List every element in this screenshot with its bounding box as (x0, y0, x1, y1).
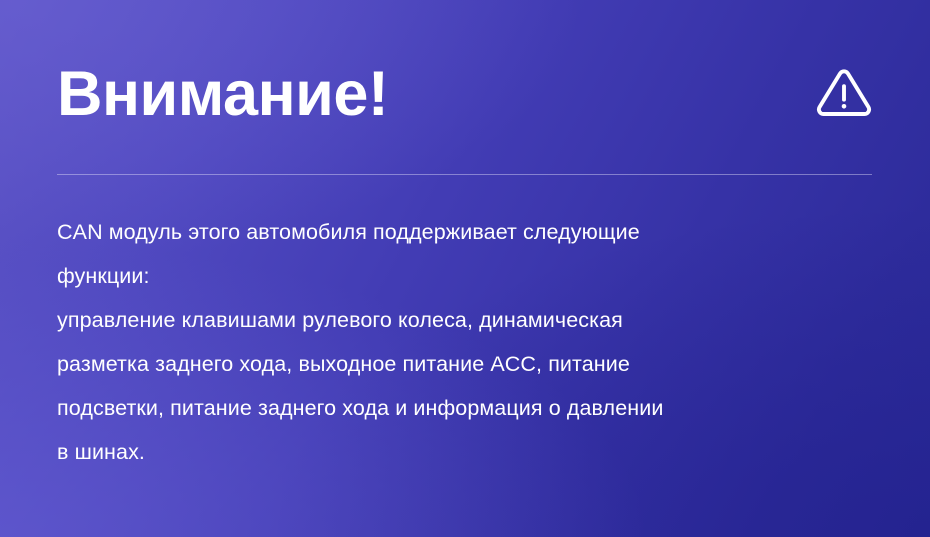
body-line: подсветки, питание заднего хода и информ… (57, 386, 885, 430)
body-line: CAN модуль этого автомобиля поддерживает… (57, 210, 885, 254)
body-line: в шинах. (57, 430, 885, 474)
warning-triangle-icon (816, 69, 872, 119)
banner-header: Внимание! (57, 52, 872, 136)
page-title: Внимание! (57, 63, 388, 126)
header-divider (57, 174, 872, 175)
notice-body: CAN модуль этого автомобиля поддерживает… (57, 210, 885, 474)
body-line: разметка заднего хода, выходное питание … (57, 342, 885, 386)
warning-notice-banner: Внимание! CAN модуль этого автомобиля по… (0, 0, 930, 537)
body-line: функции: (57, 254, 885, 298)
body-line: управление клавишами рулевого колеса, ди… (57, 298, 885, 342)
